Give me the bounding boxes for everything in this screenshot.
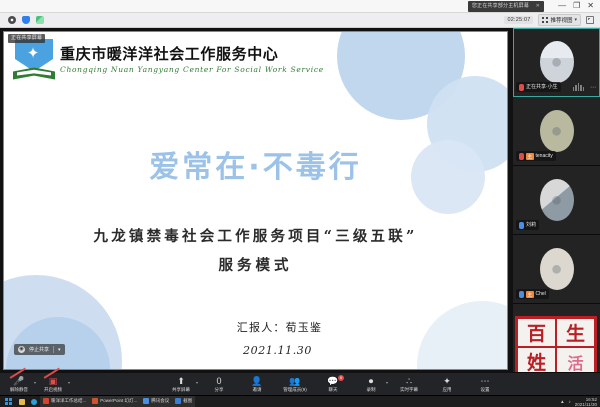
control-分享[interactable]: 0分享 — [206, 376, 232, 393]
maximize-button[interactable]: ❐ — [573, 2, 580, 10]
ppt-icon — [92, 398, 98, 404]
stamp-character: 生 — [556, 318, 595, 347]
control-label: 开启视频 — [44, 387, 62, 393]
participant-rail[interactable]: ●正在共享·小生⋯●主tenacity●刘莉●主Chel●百生姓活 — [513, 28, 600, 373]
organization-logo-icon: ✦ — [12, 38, 56, 82]
stamp-character: 姓 — [517, 347, 556, 373]
participant-name: 刘莉 — [526, 221, 536, 229]
chevron-down-icon[interactable]: ▾ — [58, 347, 61, 353]
decor-blob — [417, 301, 507, 369]
chevron-down-icon[interactable]: ▾ — [196, 380, 198, 385]
host-badge: 主 — [526, 153, 534, 160]
control-label: 应用 — [443, 387, 452, 393]
control-icon: 💬 — [327, 376, 338, 386]
taskbar-item-label: 腾讯会议 — [151, 398, 169, 404]
network-icon[interactable]: ▲ — [560, 399, 564, 404]
stamp-character: 百 — [517, 318, 556, 347]
control-icon: ⏺ — [369, 376, 374, 386]
control-icon: ✦ — [443, 376, 451, 386]
control-icon: ▣ — [49, 376, 58, 386]
avatar: ● — [540, 110, 574, 152]
slide-main-title: 爱常在·不毒行 — [4, 142, 507, 186]
img2-icon — [175, 398, 181, 404]
edge-icon — [31, 399, 37, 405]
stop-sharing-floating-toolbar[interactable]: ◉ 停止共享 ▾ — [14, 344, 65, 355]
taskbar-item[interactable]: PowerPoint 幻灯... — [89, 396, 140, 407]
divider — [53, 346, 54, 353]
control-应用[interactable]: ✦应用 — [434, 376, 460, 393]
microphone-on-icon — [519, 222, 524, 229]
grid-view-icon — [542, 17, 548, 23]
tile-more-icon[interactable]: ⋯ — [590, 84, 596, 91]
microphone-muted-icon — [519, 153, 524, 160]
clock-date: 2021/11/30 — [575, 402, 597, 407]
participant-name-chip: 主Chel — [516, 289, 549, 299]
fullscreen-icon[interactable] — [586, 16, 594, 24]
control-label: 设置 — [481, 387, 490, 393]
control-label: 管理成员(9) — [283, 387, 307, 393]
windows-logo-icon — [5, 398, 12, 405]
control-icon: ∴ — [406, 376, 412, 386]
avatar: ● — [540, 41, 574, 83]
windows-taskbar: 暖洋洋工作总结...PowerPoint 幻灯...腾讯会议截图 ▲ ♪ 16:… — [0, 395, 600, 407]
control-录制[interactable]: ⏺录制▾ — [358, 376, 384, 393]
img-icon — [143, 398, 149, 404]
audio-level-icon — [573, 83, 585, 91]
taskbar-item[interactable]: 暖洋洋工作总结... — [40, 396, 89, 407]
control-管理成员(9)[interactable]: 👥管理成员(9) — [282, 376, 308, 393]
shared-screen-stage: 正在共享屏幕 ✦ 重庆市暖洋洋社会工作服务中心 Chongqing — [0, 28, 513, 373]
wps-icon — [43, 398, 49, 404]
slide-presenter: 汇报人：荀玉鉴 — [4, 319, 507, 335]
avatar: ● — [540, 179, 574, 221]
control-icon: 👥 — [289, 376, 300, 386]
organization-name-cn: 重庆市暖洋洋社会工作服务中心 — [60, 45, 324, 63]
control-label: 分享 — [215, 387, 224, 393]
sharing-status-text: 您正在共享部分主机屏幕 — [472, 3, 529, 9]
slide-subtitle-line1: 九龙镇禁毒社会工作服务项目“三级五联” — [4, 225, 507, 246]
close-button[interactable]: ✕ — [587, 2, 594, 10]
stop-share-icon: ◉ — [18, 346, 25, 353]
taskbar-item-label: 截图 — [183, 398, 192, 404]
window-buttons: — ❐ ✕ — [558, 2, 600, 10]
share-indicator-tag: 正在共享屏幕 — [8, 34, 45, 43]
control-共享屏幕[interactable]: ⬆共享屏幕▾ — [168, 376, 194, 393]
slide-date: 2021.11.30 — [4, 344, 507, 357]
stamp-character: 活 — [556, 347, 595, 373]
watermark-stamp: 百生姓活 — [515, 316, 597, 373]
taskbar-item-label: PowerPoint 幻灯... — [100, 398, 137, 404]
taskbar-item[interactable]: 腾讯会议 — [140, 396, 172, 407]
slide-subtitle-line2: 服务模式 — [4, 254, 507, 275]
participant-tile[interactable]: ●正在共享·小生⋯ — [513, 28, 600, 97]
system-tray: ▲ ♪ 16:52 2021/11/30 — [560, 397, 600, 407]
participant-name-chip: 主tenacity — [516, 151, 556, 161]
participant-name-chip: 刘莉 — [516, 220, 539, 230]
microphone-on-icon — [519, 291, 524, 298]
windows-start-icon[interactable] — [0, 396, 16, 407]
control-解除静音[interactable]: 🎤解除静音▾ — [6, 376, 32, 393]
slide-header: ✦ 重庆市暖洋洋社会工作服务中心 Chongqing Nuan Yangyang… — [4, 32, 507, 87]
control-bar-left: 🎤解除静音▾▣开启视频▾ — [0, 376, 66, 393]
chevron-down-icon: ▾ — [574, 17, 577, 23]
logo-bird-icon: ✦ — [23, 45, 43, 62]
control-icon: 🎤 — [13, 376, 24, 386]
control-实时字幕[interactable]: ∴实时字幕 — [396, 376, 422, 393]
shield-icon[interactable] — [22, 16, 30, 24]
control-label: 实时字幕 — [400, 387, 418, 393]
control-label: 邀请 — [253, 387, 262, 393]
participant-tile[interactable]: ●主tenacity — [513, 97, 600, 166]
control-设置[interactable]: ⋯设置 — [472, 376, 498, 393]
taskbar-clock[interactable]: 16:52 2021/11/30 — [575, 397, 597, 407]
participant-name: 正在共享·小生 — [526, 83, 558, 91]
meeting-toolbar-right: 02:25:07 推荐视图 ▾ — [504, 14, 600, 26]
control-icon: ⋯ — [481, 376, 490, 386]
sharing-status-badge: 您正在共享部分主机屏幕 ✕ — [468, 1, 544, 12]
taskbar-item-label: 暖洋洋工作总结... — [51, 398, 86, 404]
taskbar-item[interactable] — [16, 396, 28, 407]
taskbar-item[interactable] — [28, 396, 40, 407]
participant-tile[interactable]: ●百生姓活 — [513, 304, 600, 373]
share-frame: 正在共享屏幕 ✦ 重庆市暖洋洋社会工作服务中心 Chongqing — [3, 31, 508, 370]
control-icon: ⬆ — [177, 376, 185, 386]
participant-name: Chel — [536, 290, 546, 298]
participant-name-chip: 正在共享·小生 — [516, 82, 561, 92]
control-label: 解除静音 — [10, 387, 28, 393]
network-stats-icon[interactable] — [36, 16, 44, 24]
control-邀请[interactable]: 👤邀请 — [244, 376, 270, 393]
volume-icon[interactable]: ♪ — [569, 399, 571, 404]
avatar: ● — [540, 248, 574, 290]
meeting-control-bar: 🎤解除静音▾▣开启视频▾ ⬆共享屏幕▾0分享👤邀请👥管理成员(9)💬聊天9⏺录制… — [0, 373, 600, 395]
logo-book-shape — [13, 67, 55, 80]
participant-tile[interactable]: ●刘莉 — [513, 166, 600, 235]
meeting-toolbar-icons — [0, 16, 44, 24]
control-icon: 👤 — [251, 376, 262, 386]
notification-badge: 9 — [338, 375, 344, 381]
control-label: 聊天 — [329, 387, 338, 393]
organization-name-en: Chongqing Nuan Yangyang Center For Socia… — [60, 65, 324, 74]
control-开启视频[interactable]: ▣开启视频▾ — [40, 376, 66, 393]
sharing-badge-close-icon[interactable]: ✕ — [536, 3, 540, 9]
chevron-down-icon[interactable]: ▾ — [386, 380, 388, 385]
view-mode-label: 推荐视图 — [550, 16, 572, 24]
tencent-meeting-window: — ❐ ✕ 您正在共享部分主机屏幕 ✕ 02:25:07 推荐视图 ▾ 正在共享… — [0, 0, 600, 407]
taskbar-item[interactable]: 截图 — [172, 396, 195, 407]
minimize-button[interactable]: — — [558, 2, 566, 10]
host-badge: 主 — [526, 291, 534, 298]
control-label: 录制 — [367, 387, 376, 393]
chevron-down-icon[interactable]: ▾ — [68, 380, 70, 385]
control-icon: 0 — [216, 376, 221, 386]
taskbar-items: 暖洋洋工作总结...PowerPoint 幻灯...腾讯会议截图 — [16, 396, 195, 407]
participant-tile[interactable]: ●主Chel — [513, 235, 600, 304]
control-聊天[interactable]: 💬聊天9 — [320, 376, 346, 393]
presentation-slide: ✦ 重庆市暖洋洋社会工作服务中心 Chongqing Nuan Yangyang… — [4, 32, 507, 369]
organization-titles: 重庆市暖洋洋社会工作服务中心 Chongqing Nuan Yangyang C… — [60, 45, 324, 74]
microphone-muted-icon — [519, 84, 524, 91]
meeting-timer: 02:25:07 — [504, 16, 533, 24]
chevron-down-icon[interactable]: ▾ — [34, 380, 36, 385]
view-mode-button[interactable]: 推荐视图 ▾ — [538, 14, 581, 26]
gear-icon[interactable] — [8, 16, 16, 24]
participant-name: tenacity — [536, 152, 553, 160]
folder-icon — [19, 399, 25, 405]
control-bar-main: ⬆共享屏幕▾0分享👤邀请👥管理成员(9)💬聊天9⏺录制▾∴实时字幕✦应用⋯设置 — [168, 376, 498, 393]
control-label: 共享屏幕 — [172, 387, 190, 393]
stop-share-label: 停止共享 — [29, 346, 49, 353]
meeting-toolbar: 02:25:07 推荐视图 ▾ — [0, 13, 600, 28]
